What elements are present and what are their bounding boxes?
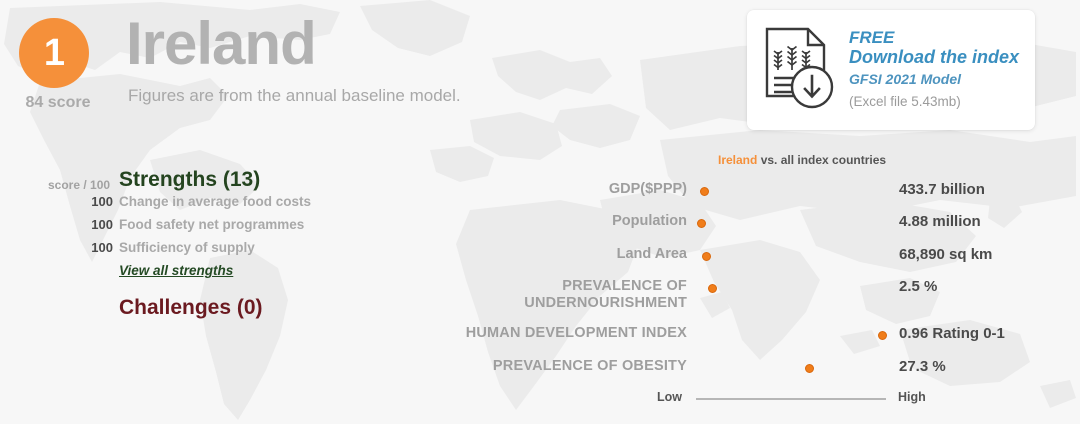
rank-badge: 1 <box>19 18 89 88</box>
table-row: Population 4.88 million <box>0 213 1080 243</box>
comparison-rest: vs. all index countries <box>757 153 886 167</box>
metric-dot[interactable] <box>878 331 887 340</box>
score-label: 84 score <box>14 94 102 112</box>
metric-label: PREVALENCE OF UNDERNOURISHMENT <box>420 278 687 312</box>
comparison-country: Ireland <box>718 153 757 167</box>
scale-high-label: High <box>898 390 926 404</box>
metric-dot[interactable] <box>805 364 814 373</box>
metric-label: GDP($PPP) <box>420 181 687 198</box>
page-title: Ireland <box>126 12 316 75</box>
document-download-icon <box>761 26 837 115</box>
model-label: GFSI 2021 Model <box>849 69 1019 90</box>
metric-value: 433.7 billion <box>899 181 985 198</box>
metric-dot[interactable] <box>702 252 711 261</box>
comparison-header: Ireland vs. all index countries <box>718 153 886 167</box>
metric-label: Land Area <box>420 246 687 263</box>
download-card-text: FREE Download the index GFSI 2021 Model … <box>849 28 1019 111</box>
scale-line <box>696 398 886 400</box>
table-row: PREVALENCE OF OBESITY 27.3 % <box>0 358 1080 388</box>
page-subtitle: Figures are from the annual baseline mod… <box>128 86 461 106</box>
metric-dot[interactable] <box>697 219 706 228</box>
metric-label: HUMAN DEVELOPMENT INDEX <box>420 325 687 342</box>
metric-label: PREVALENCE OF OBESITY <box>420 358 687 375</box>
download-index-card[interactable]: FREE Download the index GFSI 2021 Model … <box>747 10 1035 130</box>
metric-value: 2.5 % <box>899 278 937 295</box>
table-row: Land Area 68,890 sq km <box>0 246 1080 276</box>
scale-low-label: Low <box>620 390 682 404</box>
metric-value: 68,890 sq km <box>899 246 992 263</box>
metric-dot[interactable] <box>700 187 709 196</box>
free-label: FREE <box>849 28 1019 47</box>
metric-value: 4.88 million <box>899 213 981 230</box>
table-row: PREVALENCE OF UNDERNOURISHMENT 2.5 % <box>0 278 1080 318</box>
file-size-label: (Excel file 5.43mb) <box>849 92 1019 112</box>
rank-number: 1 <box>44 34 64 72</box>
table-row: HUMAN DEVELOPMENT INDEX 0.96 Rating 0-1 <box>0 325 1080 355</box>
metric-value: 27.3 % <box>899 358 946 375</box>
metric-dot[interactable] <box>708 284 717 293</box>
metric-label: Population <box>420 213 687 230</box>
country-profile-page: 1 84 score Ireland Figures are from the … <box>0 0 1080 424</box>
download-index-label: Download the index <box>849 47 1019 68</box>
table-row: GDP($PPP) 433.7 billion <box>0 181 1080 211</box>
metric-value: 0.96 Rating 0-1 <box>899 325 1005 342</box>
